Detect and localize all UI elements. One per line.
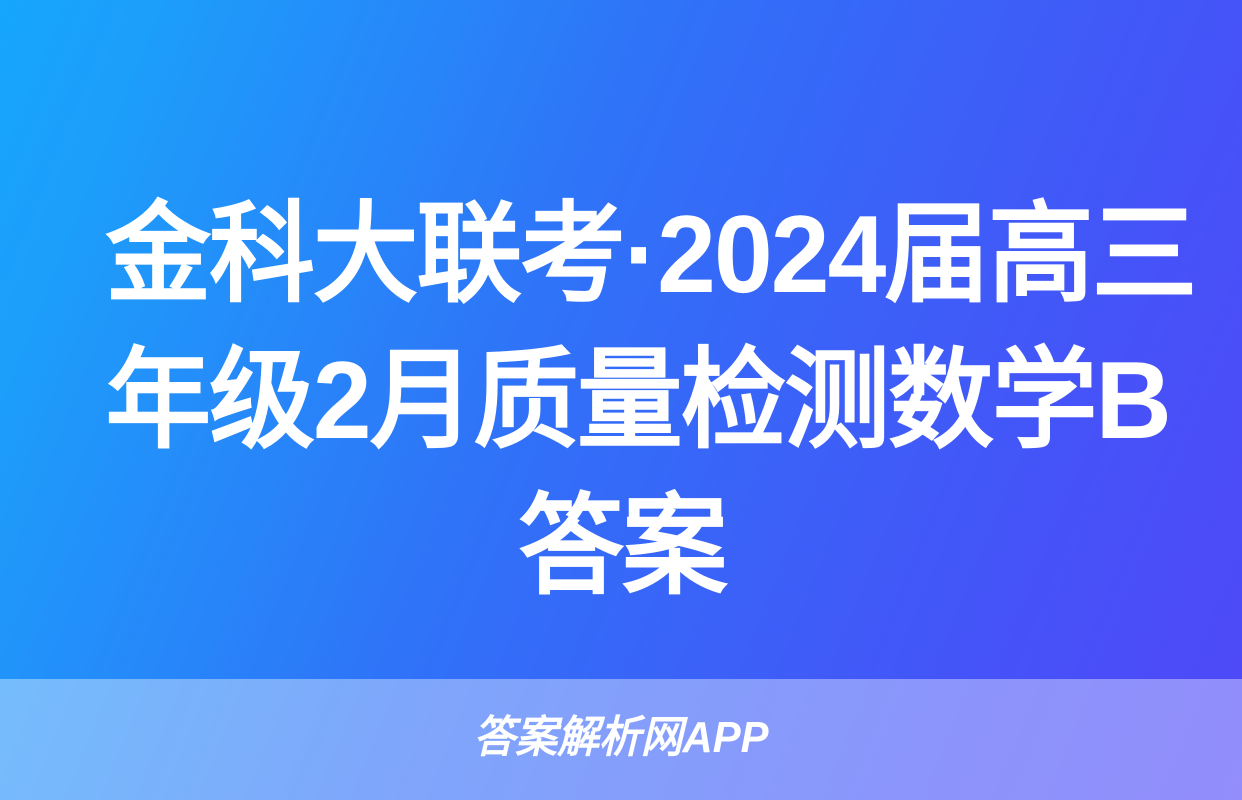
poster-title: 金科大联考·2024届高三 年级2月质量检测数学B 答案: [84, 182, 1160, 620]
title-line-3: 答案: [106, 474, 1139, 620]
title-line-2: 年级2月质量检测数学B: [106, 328, 1139, 474]
poster-card: 金科大联考·2024届高三 年级2月质量检测数学B 答案 答案解析网APP: [0, 0, 1242, 800]
app-watermark: 答案解析网APP: [31, 712, 1211, 764]
title-line-1: 金科大联考·2024届高三: [106, 182, 1139, 328]
